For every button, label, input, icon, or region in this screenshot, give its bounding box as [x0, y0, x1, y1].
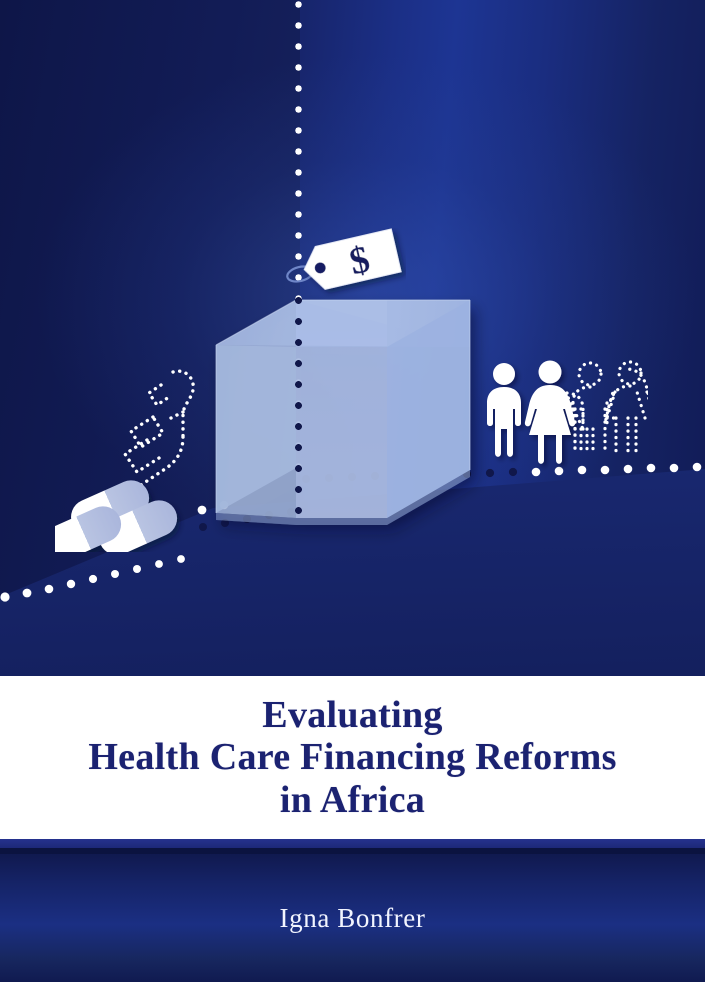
- author-band: Igna Bonfrer: [0, 854, 705, 982]
- man-figure: [487, 363, 521, 457]
- book-cover: $: [0, 0, 705, 982]
- outline-figure-1: [566, 363, 607, 453]
- pills-and-microscope: [55, 362, 235, 557]
- author-name: Igna Bonfrer: [280, 903, 426, 934]
- book-title: Evaluating Health Care Financing Reforms…: [88, 694, 616, 821]
- title-band: Evaluating Health Care Financing Reforms…: [0, 676, 705, 839]
- translucent-cube: [0, 0, 705, 676]
- cover-artwork: $: [0, 0, 705, 676]
- people-group: [478, 360, 648, 477]
- outline-figure-2: [605, 362, 648, 453]
- capsule-pills: [55, 475, 183, 552]
- title-band-rule: [0, 839, 705, 848]
- woman-figure: [525, 361, 575, 464]
- price-tag: $: [286, 228, 406, 308]
